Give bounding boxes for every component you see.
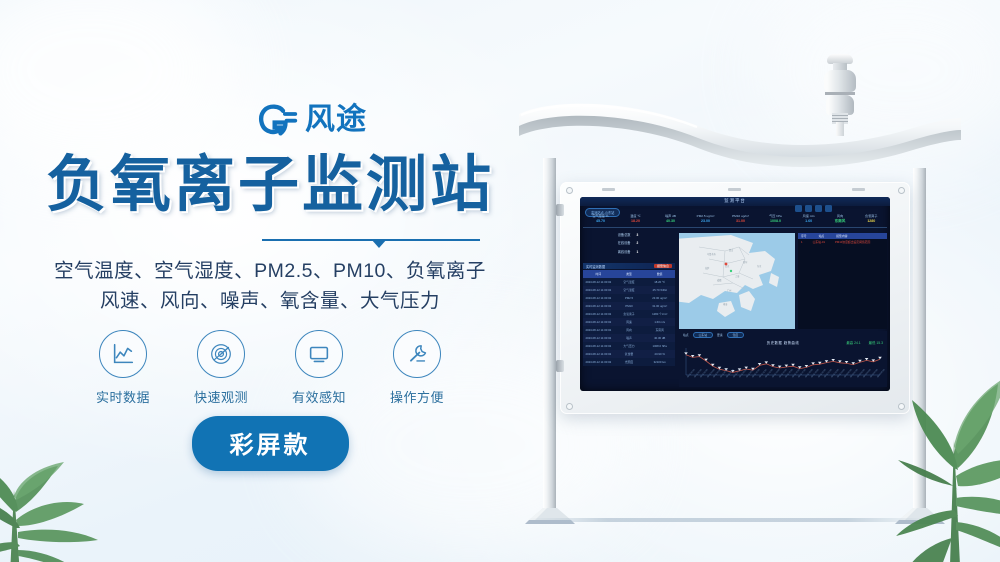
metric-value: 1.60 bbox=[793, 219, 824, 225]
alert-panel[interactable]: 序号站点报警内容 1山东站-01PM10浓度超出设定阈值范围 bbox=[798, 233, 887, 329]
metric-value: 1280 bbox=[856, 219, 887, 225]
toolbar-icons[interactable] bbox=[795, 205, 832, 212]
metric-value: 23.00 bbox=[688, 219, 723, 225]
table-row[interactable]: 2023-08-12 11:00:02PM1031.00 ug/m³ bbox=[583, 302, 675, 310]
feature-label: 操作方便 bbox=[386, 387, 448, 406]
table-cell: 东南风 bbox=[644, 328, 675, 332]
stat-row: 离线设备1 bbox=[585, 248, 671, 256]
table-header-cell: 时间 bbox=[583, 272, 614, 276]
table-row[interactable]: 2023-08-12 11:00:02风向东南风 bbox=[583, 326, 675, 334]
wrench-icon bbox=[393, 330, 441, 378]
promo-banner: 风途 负氧离子监测站 空气温度、空气湿度、PM2.5、PM10、负氧离子 风速、… bbox=[0, 0, 1000, 562]
metric-card[interactable]: 气压 hPa1008.0 bbox=[758, 214, 793, 224]
stat-label: 在线设备 bbox=[618, 239, 631, 247]
radar-observation-icon bbox=[197, 330, 245, 378]
stat-label: 设备总数 bbox=[618, 231, 631, 239]
table-row[interactable]: 2023-08-12 11:00:02大气压力1008.0 hPa bbox=[583, 342, 675, 350]
line-chart-icon bbox=[99, 330, 147, 378]
ground-shadow bbox=[527, 518, 927, 522]
metric-card-row: 空气湿度 %45.70温度 ℃18.20噪声 dB40.30PM2.5 ug/m… bbox=[583, 214, 793, 224]
table-cell: 1.60 m/s bbox=[644, 320, 675, 324]
table-cell: 1280 个/cm³ bbox=[644, 312, 675, 316]
table-row[interactable]: 2023-08-12 11:00:02空气温度18.20 ℃ bbox=[583, 278, 675, 286]
feature-subtitle: 空气温度、空气湿度、PM2.5、PM10、负氧离子 风速、风向、噪声、氧含量、大… bbox=[0, 256, 540, 316]
table-cell: 2023-08-12 11:00:02 bbox=[583, 296, 614, 300]
table-cell: 风速 bbox=[614, 320, 645, 324]
hinge-icon bbox=[556, 204, 564, 216]
metric-card[interactable]: 空气湿度 %45.70 bbox=[583, 214, 618, 224]
foreground-plant-right bbox=[890, 370, 1000, 562]
table-cell: 20.90 % bbox=[644, 352, 675, 356]
alert-badge[interactable]: 报警信息 bbox=[654, 264, 672, 268]
stat-value: 1 bbox=[636, 248, 638, 256]
metric-value: 1008.0 bbox=[758, 219, 793, 225]
brand-name: 风途 bbox=[305, 105, 367, 135]
table-cell: 2023-08-12 11:00:02 bbox=[583, 320, 614, 324]
table-cell: 23.00 ug/m³ bbox=[644, 296, 675, 300]
table-row[interactable]: 2023-08-12 11:00:02氧含量20.90 % bbox=[583, 350, 675, 358]
table-cell: 45.70 %RH bbox=[644, 288, 675, 292]
stat-row: 设备总数3 bbox=[585, 231, 671, 239]
dashboard-header: 监测平台 bbox=[580, 197, 890, 206]
page-title: 负氧离子监测站 bbox=[0, 152, 540, 218]
table-cell: 1008.0 hPa bbox=[644, 344, 675, 348]
curved-canopy-icon bbox=[513, 98, 965, 188]
stat-row: 在线设备2 bbox=[585, 239, 671, 247]
alert-cell: PM10浓度超出设定阈值范围 bbox=[835, 240, 870, 244]
table-row[interactable]: 2023-08-12 11:00:02PM2.523.00 ug/m³ bbox=[583, 294, 675, 302]
alert-list[interactable]: 1山东站-01PM10浓度超出设定阈值范围 bbox=[798, 239, 887, 245]
metric-card-row-secondary: 风速 m/s1.60风向东南风负氧离子1280 bbox=[793, 214, 887, 224]
support-pole-icon bbox=[543, 158, 556, 520]
feature-item-effective-sensing[interactable]: 有效感知 bbox=[288, 330, 350, 406]
table-cell: 空气湿度 bbox=[614, 288, 645, 292]
table-cell: 空气温度 bbox=[614, 280, 645, 284]
table-row[interactable]: 2023-08-12 11:00:02噪声40.30 dB bbox=[583, 334, 675, 342]
toolbar-icon[interactable] bbox=[825, 205, 832, 212]
table-cell: 2023-08-12 11:00:02 bbox=[583, 328, 614, 332]
table-cell: 2023-08-12 11:00:02 bbox=[583, 344, 614, 348]
table-cell: 2023-08-12 11:00:02 bbox=[583, 312, 614, 316]
toolbar-icon[interactable] bbox=[805, 205, 812, 212]
table-cell: 2023-08-12 11:00:02 bbox=[583, 304, 614, 308]
trend-chart-panel[interactable]: 站点 山东站 要素 温度 历史数据 趋势曲线 最高 24.1最低 15.3 08… bbox=[679, 331, 887, 387]
table-cell: 18.20 ℃ bbox=[644, 280, 675, 284]
display-cabinet: 监测平台 监测站点-山东站 空气湿度 %45.70温度 ℃18.20噪声 dB4… bbox=[560, 182, 910, 414]
feature-item-easy-operation[interactable]: 操作方便 bbox=[386, 330, 448, 406]
table-title: 实时监测数据 bbox=[586, 264, 605, 269]
table-cell: 2023-08-12 11:00:02 bbox=[583, 336, 614, 340]
table-cell: 光照度 bbox=[614, 360, 645, 364]
table-cell: 2023-08-12 11:00:02 bbox=[583, 360, 614, 364]
metric-value: 45.70 bbox=[583, 219, 618, 225]
feature-icon-row: 实时数据 快速观测 bbox=[0, 330, 540, 406]
stat-label: 离线设备 bbox=[618, 248, 631, 256]
feature-item-fast-observation[interactable]: 快速观测 bbox=[190, 330, 252, 406]
table-cell: PM10 bbox=[614, 304, 645, 308]
metric-card[interactable]: 噪声 dB40.30 bbox=[653, 214, 688, 224]
feature-label: 快速观测 bbox=[190, 387, 252, 406]
device-stat-box: 设备总数3在线设备2离线设备1 bbox=[585, 231, 671, 261]
alert-header-cell: 报警内容 bbox=[836, 234, 847, 238]
stat-value: 2 bbox=[636, 239, 638, 247]
chart-readouts: 最高 24.1最低 15.3 bbox=[846, 340, 883, 345]
screw-icon bbox=[898, 187, 905, 194]
brand-logo: 风途 bbox=[258, 103, 367, 137]
feature-label: 有效感知 bbox=[288, 387, 350, 406]
metric-card[interactable]: PM2.5 ug/m³23.00 bbox=[688, 214, 723, 224]
divider bbox=[0, 235, 540, 244]
table-cell: 风向 bbox=[614, 328, 645, 332]
stat-value: 3 bbox=[636, 231, 638, 239]
table-cell: 2023-08-12 11:00:02 bbox=[583, 288, 614, 292]
chart-controls[interactable]: 站点 山东站 要素 温度 bbox=[679, 331, 887, 339]
alert-header-cell: 站点 bbox=[819, 234, 825, 238]
chart-select-left-label: 站点 bbox=[683, 333, 689, 337]
table-cell: 2023-08-12 11:00:02 bbox=[583, 280, 614, 284]
metric-value: 东南风 bbox=[824, 219, 855, 225]
table-header-row: 时间类型数值 bbox=[583, 270, 675, 278]
data-table[interactable]: 时间类型数值2023-08-12 11:00:02空气温度18.20 ℃2023… bbox=[583, 270, 675, 366]
hinge-icon bbox=[556, 360, 564, 372]
table-row[interactable]: 2023-08-12 11:00:02负氧离子1280 个/cm³ bbox=[583, 310, 675, 318]
metric-card[interactable]: 风速 m/s1.60 bbox=[793, 214, 824, 224]
china-map[interactable]: 乌鲁木齐蒙古 北京上海 成都广州 拉萨首尔 东京南海 bbox=[679, 233, 795, 329]
screw-icon bbox=[566, 403, 573, 410]
vent-slot bbox=[852, 188, 865, 191]
vent-slot bbox=[602, 188, 615, 191]
subtitle-line-2: 风速、风向、噪声、氧含量、大气压力 bbox=[0, 286, 540, 316]
table-header-bar: 实时监测数据 报警信息 bbox=[583, 263, 675, 269]
vent-slot bbox=[728, 188, 741, 191]
foreground-plant-left bbox=[0, 400, 170, 562]
alert-row[interactable]: 1山东站-01PM10浓度超出设定阈值范围 bbox=[798, 239, 887, 245]
metric-value: 18.20 bbox=[618, 219, 653, 225]
table-cell: 2023-08-12 11:00:02 bbox=[583, 352, 614, 356]
table-cell: PM2.5 bbox=[614, 296, 645, 300]
metric-value: 31.00 bbox=[723, 219, 758, 225]
monitor-screen-icon bbox=[295, 330, 343, 378]
table-cell: 负氧离子 bbox=[614, 312, 645, 316]
metric-card[interactable]: 温度 ℃18.20 bbox=[618, 214, 653, 224]
screw-icon bbox=[566, 187, 573, 194]
table-row[interactable]: 2023-08-12 11:00:02空气湿度45.70 %RH bbox=[583, 286, 675, 294]
chart-select-left[interactable]: 山东站 bbox=[693, 332, 713, 338]
chart-x-axis-labels: 08-12 00:0008-12 01:0008-12 02:0008-12 0… bbox=[687, 377, 883, 386]
table-cell: 噪声 bbox=[614, 336, 645, 340]
chart-select-right[interactable]: 温度 bbox=[727, 332, 745, 338]
table-cell: 32100 lux bbox=[644, 360, 675, 364]
table-cell: 40.30 dB bbox=[644, 336, 675, 340]
divider-line bbox=[583, 227, 887, 228]
table-cell: 氧含量 bbox=[614, 352, 645, 356]
dashboard-title: 监测平台 bbox=[580, 198, 890, 204]
alert-header-cell: 序号 bbox=[801, 234, 807, 238]
subtitle-line-1: 空气温度、空气湿度、PM2.5、PM10、负氧离子 bbox=[0, 256, 540, 286]
toolbar-icon[interactable] bbox=[815, 205, 822, 212]
toolbar-icon[interactable] bbox=[795, 205, 802, 212]
feature-item-realtime-data[interactable]: 实时数据 bbox=[92, 330, 154, 406]
alert-cell: 1 bbox=[801, 240, 803, 244]
alert-cell: 山东站-01 bbox=[813, 240, 825, 244]
badge-label: 彩屏款 bbox=[192, 416, 349, 471]
table-header-cell: 类型 bbox=[614, 272, 645, 276]
divider-triangle-icon bbox=[371, 239, 387, 248]
table-header-cell: 数值 bbox=[644, 272, 675, 276]
metric-card[interactable]: 风向东南风 bbox=[824, 214, 855, 224]
table-cell: 大气压力 bbox=[614, 344, 645, 348]
metric-card[interactable]: 负氧离子1280 bbox=[856, 214, 887, 224]
table-cell: 31.00 ug/m³ bbox=[644, 304, 675, 308]
table-row[interactable]: 2023-08-12 11:00:02光照度32100 lux bbox=[583, 358, 675, 366]
wind-g-logo-icon bbox=[258, 103, 298, 137]
metric-value: 40.30 bbox=[653, 219, 688, 225]
dashboard-screen[interactable]: 监测平台 监测站点-山东站 空气湿度 %45.70温度 ℃18.20噪声 dB4… bbox=[580, 197, 890, 391]
metric-card[interactable]: PM10 ug/m³31.00 bbox=[723, 214, 758, 224]
table-row[interactable]: 2023-08-12 11:00:02风速1.60 m/s bbox=[583, 318, 675, 326]
chart-readout: 最高 24.1 bbox=[846, 340, 860, 345]
chart-select-right-label: 要素 bbox=[717, 333, 723, 337]
chart-readout: 最低 15.3 bbox=[869, 340, 883, 345]
